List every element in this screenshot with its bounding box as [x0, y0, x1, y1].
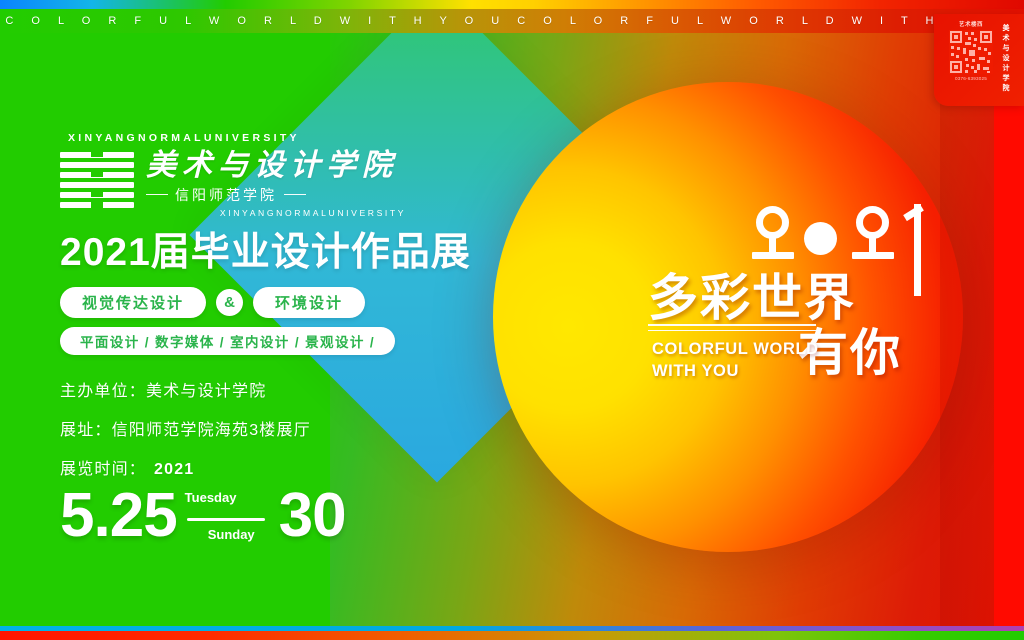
venue-line: 展址：信阳师范学院海苑3楼展厅	[60, 416, 480, 440]
logo-english-bottom: XINYANGNORMALUNIVERSITY	[146, 208, 480, 218]
logo-subline: 信阳师范学院	[146, 185, 480, 205]
headline-english-line1: COLORFUL WORLD	[652, 338, 819, 360]
digit-zero-dot	[804, 222, 837, 255]
left-info-column: XINYANGNORMALUNIVERSITY 美术与设计学院 信阳师范学院	[60, 132, 480, 547]
digit-two-first	[752, 206, 798, 262]
weekday-start: Tuesday	[185, 490, 237, 505]
date-dash-line	[187, 518, 265, 521]
digit-two-second	[852, 206, 898, 262]
exhibition-time-label: 展览时间：	[60, 461, 146, 478]
date-separator: Tuesday Sunday	[181, 485, 275, 547]
weekday-end: Sunday	[208, 527, 255, 542]
page-title: 2021届毕业设计作品展	[60, 232, 480, 275]
qr-badge-left: 艺术楼西	[942, 20, 1000, 100]
headline-double-rule	[648, 324, 816, 335]
headline-english-line2: WITH YOU	[652, 360, 819, 382]
logo-english-top: XINYANGNORMALUNIVERSITY	[68, 132, 480, 144]
date-start: 5.25	[60, 485, 177, 547]
pill-visual-communication[interactable]: 视觉传达设计	[60, 287, 206, 318]
poster-canvas: C O L O R F U L W O R L D W I T H Y O U …	[0, 0, 1024, 640]
pill-environmental-design[interactable]: 环境设计	[253, 287, 365, 318]
logo-dash-right	[284, 194, 306, 196]
date-range: 5.25 Tuesday Sunday 30	[60, 485, 480, 547]
logo-block: 美术与设计学院 信阳师范学院 XINYANGNORMALUNIVERSITY	[60, 150, 480, 218]
host-line: 主办单位：美术与设计学院	[60, 377, 480, 401]
top-banner-text: C O L O R F U L W O R L D W I T H Y O U …	[0, 9, 1024, 33]
logo-text-block: 美术与设计学院 信阳师范学院 XINYANGNORMALUNIVERSITY	[146, 150, 480, 218]
qr-badge[interactable]: 艺术楼西	[934, 14, 1024, 106]
headline-english: COLORFUL WORLD WITH YOU	[652, 338, 819, 383]
majors-list-pill[interactable]: 平面设计 / 数字媒体 / 室内设计 / 景观设计 /	[60, 327, 395, 355]
exhibition-time-line: 展览时间：2021	[60, 455, 480, 479]
logo-university-name: 信阳师范学院	[175, 185, 277, 205]
bottom-red-strip	[0, 631, 1024, 640]
digit-one-stroke	[914, 204, 921, 296]
logo-dash-left	[146, 194, 168, 196]
headline-chinese-line2: 有你	[798, 327, 968, 380]
major-pill-row: 视觉传达设计 & 环境设计	[60, 287, 480, 318]
year-2021-graphic	[752, 206, 942, 268]
qr-phone-number: 0376-6393025	[955, 76, 987, 81]
university-emblem-icon	[60, 152, 134, 208]
qr-code-icon[interactable]	[949, 30, 993, 74]
top-rainbow-rule	[0, 0, 1024, 9]
ampersand-badge: &	[216, 289, 243, 316]
date-end: 30	[279, 485, 346, 547]
qr-badge-vertical-label: 美术与设计学院	[1002, 20, 1009, 100]
qr-caption: 艺术楼西	[959, 20, 983, 28]
logo-chinese-name: 美术与设计学院	[146, 150, 480, 182]
exhibition-year: 2021	[154, 461, 194, 478]
right-headline-column: 多彩世界 有你 COLORFUL WORLD WITH YOU	[648, 206, 968, 379]
